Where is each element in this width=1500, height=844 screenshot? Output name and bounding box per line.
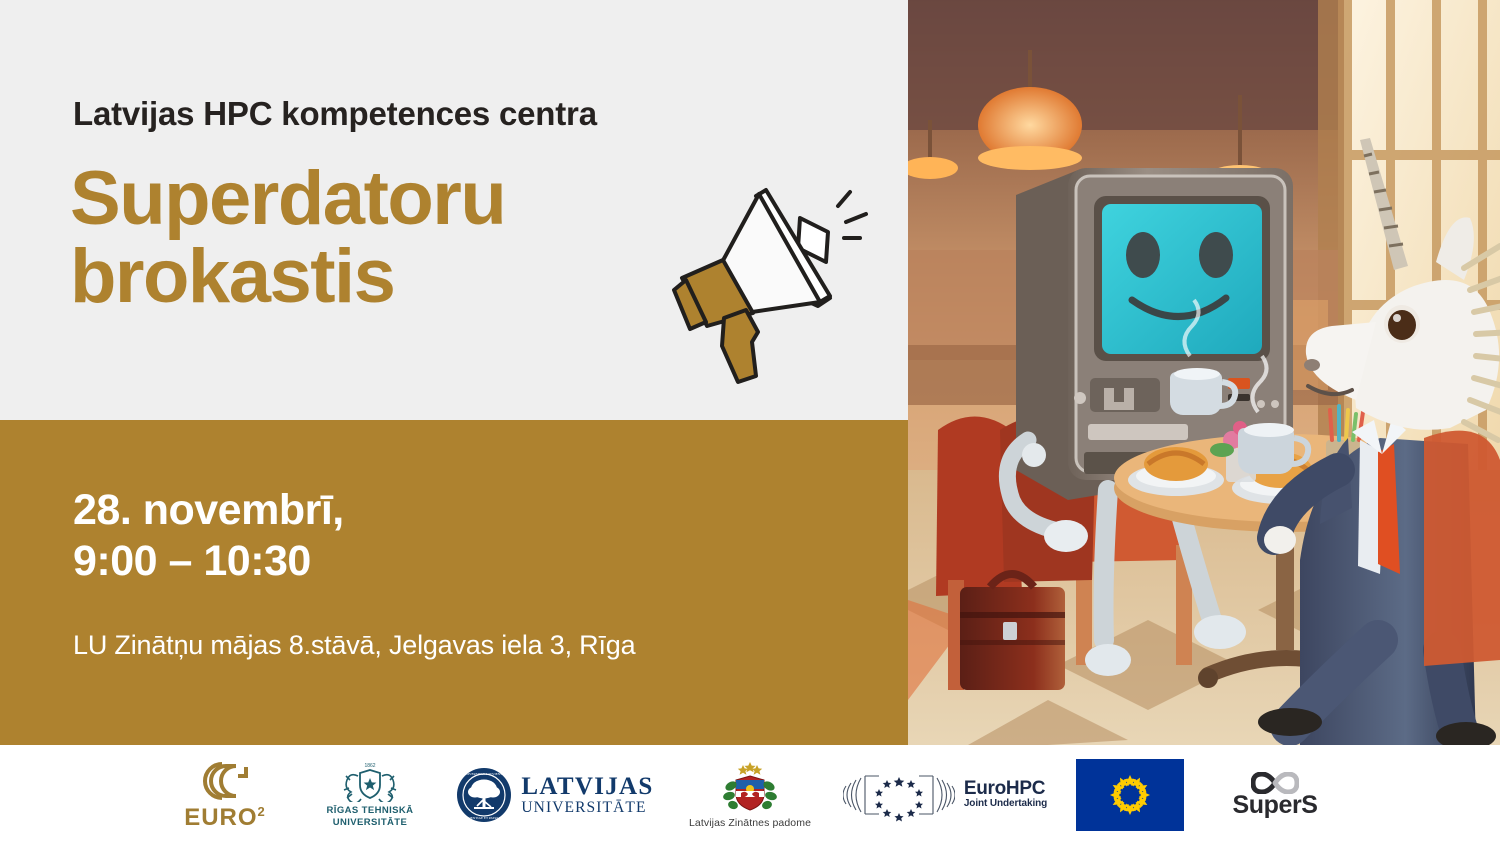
- poster-root: Latvijas HPC kompetences centra Superdat…: [0, 0, 1500, 844]
- megaphone-icon: [660, 170, 910, 390]
- cafe-scene-illustration: [908, 0, 1500, 745]
- event-datetime: 28. novembrī, 9:00 – 10:30: [73, 485, 344, 586]
- rtu-crest-icon: 1862: [340, 760, 400, 802]
- logo-lu: UNIVERSITAS LATVIENSIS SCIENTIAE ET PATR…: [440, 745, 670, 844]
- event-venue: LU Zinātņu mājas 8.stāvā, Jelgavas iela …: [73, 630, 635, 661]
- latvia-coat-of-arms-icon: [719, 760, 781, 814]
- logo-lzp: Latvijas Zinātnes padome: [670, 745, 830, 844]
- lzp-label: Latvijas Zinātnes padome: [689, 817, 811, 829]
- supers-label: SuperS: [1232, 793, 1317, 818]
- rtu-label: RĪGAS TEHNISKĀ UNIVERSITĀTE: [327, 805, 414, 829]
- headline-line-1: Superdatoru: [70, 160, 505, 238]
- svg-text:UNIVERSITAS LATVIENSIS: UNIVERSITAS LATVIENSIS: [463, 772, 505, 776]
- rtu-crest-year: 1862: [364, 763, 375, 769]
- logo-supers: SuperS: [1200, 745, 1350, 844]
- eurohpc-mark-icon: [843, 768, 955, 822]
- kicker-text: Latvijas HPC kompetences centra: [73, 95, 597, 133]
- hero-photo: [908, 0, 1500, 745]
- page-title: Superdatoru brokastis: [70, 160, 505, 315]
- eu-flag-icon: [1076, 759, 1184, 831]
- headline-line-2: brokastis: [70, 238, 505, 316]
- partner-logo-bar: EURO2 1862 RĪGAS TEHNISKĀ UNIVERSITĀTE: [0, 745, 1500, 844]
- eurohpc-label: EuroHPC Joint Undertaking: [964, 779, 1047, 809]
- logo-eurohpc: EuroHPC Joint Undertaking: [830, 745, 1060, 844]
- euro2-label: EURO2: [184, 805, 266, 830]
- lu-label: LATVIJAS UNIVERSITĀTE: [521, 774, 653, 816]
- logo-eu-flag: [1060, 745, 1200, 844]
- logo-rtu: 1862 RĪGAS TEHNISKĀ UNIVERSITĀTE: [300, 745, 440, 844]
- lu-seal-icon: UNIVERSITAS LATVIENSIS SCIENTIAE ET PATR…: [456, 767, 512, 823]
- euro2-mark-icon: [196, 760, 254, 802]
- event-time: 9:00 – 10:30: [73, 536, 344, 587]
- svg-text:SCIENTIAE ET PATRIAE: SCIENTIAE ET PATRIAE: [466, 816, 503, 820]
- event-date: 28. novembrī,: [73, 485, 344, 536]
- logo-euro2: EURO2: [150, 745, 300, 844]
